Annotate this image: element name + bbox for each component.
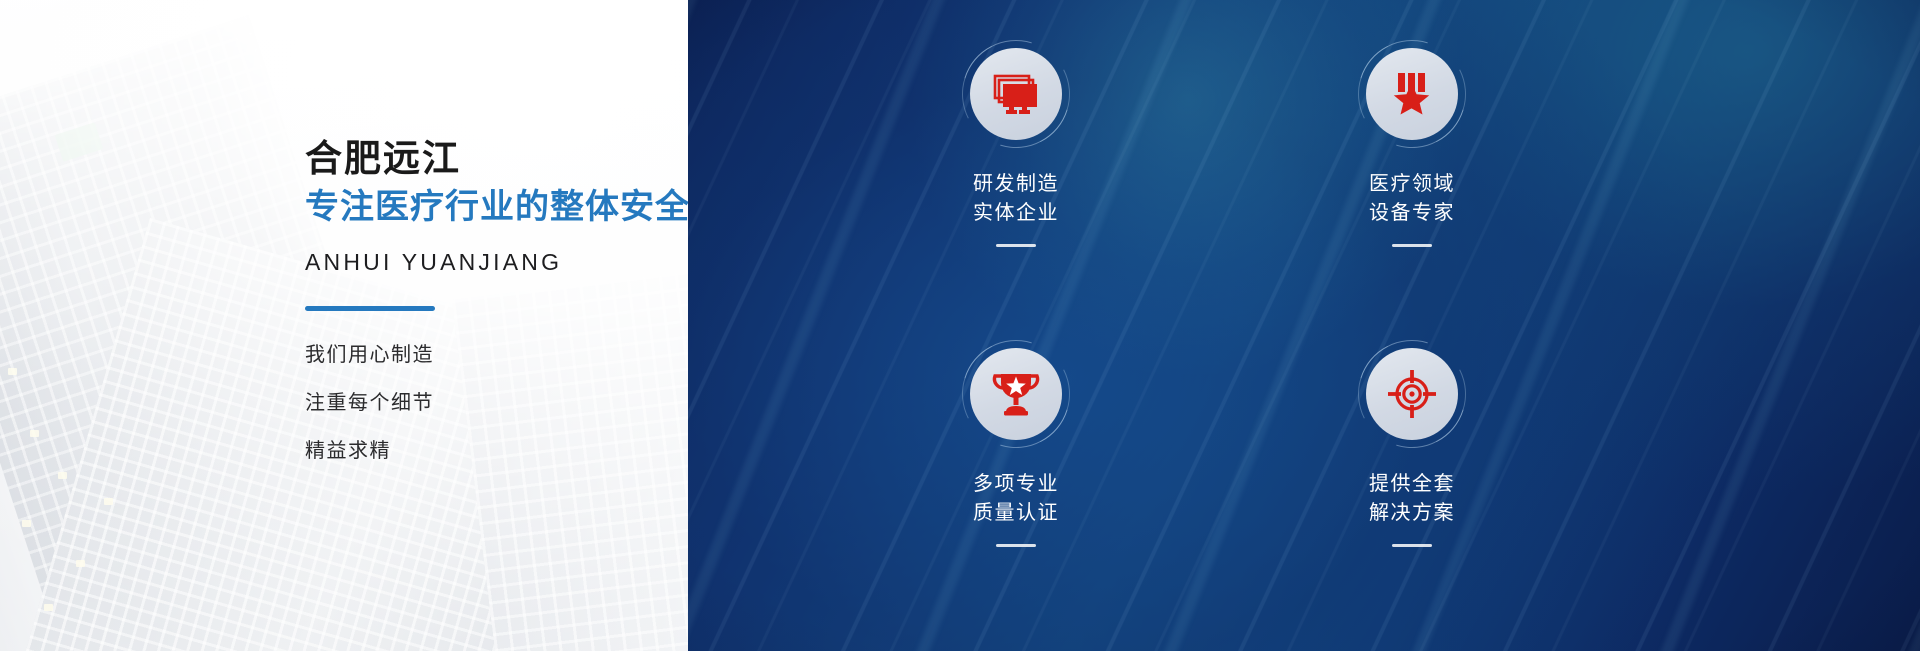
feature-item-medical-expert[interactable]: 医疗领域 设备专家 (1214, 40, 1610, 332)
promo-banner: 合肥远江 专注医疗行业的整体安全 ANHUI YUANJIANG 我们用心制造 … (0, 0, 1920, 651)
icon-container (1358, 40, 1466, 148)
feature-item-quality-certification[interactable]: 多项专业 质量认证 (818, 332, 1214, 624)
icon-disc (970, 48, 1062, 140)
icon-disc (1366, 48, 1458, 140)
feature-label: 提供全套 解决方案 (1369, 470, 1455, 528)
slogan-list: 我们用心制造 注重每个细节 精益求精 (305, 345, 685, 461)
feature-label-line2: 质量认证 (973, 499, 1059, 528)
brand-tagline-cn: 专注医疗行业的整体安全 (305, 185, 685, 229)
medal-star-icon (1390, 71, 1434, 117)
icon-disc (1366, 348, 1458, 440)
icon-container (962, 40, 1070, 148)
feature-label-line2: 实体企业 (973, 199, 1059, 228)
feature-label-line1: 研发制造 (973, 170, 1059, 199)
feature-label-line1: 医疗领域 (1369, 170, 1455, 199)
feature-underline (1392, 544, 1432, 547)
feature-underline (996, 244, 1036, 247)
right-feature-panel: 研发制造 实体企业 (688, 0, 1920, 651)
feature-label-line1: 多项专业 (973, 470, 1059, 499)
slogan-line: 注重每个细节 (305, 393, 685, 413)
factory-building-icon (991, 73, 1041, 115)
brand-name-en: ANHUI YUANJIANG (305, 249, 685, 276)
icon-disc (970, 348, 1062, 440)
brand-text-block: 合肥远江 专注医疗行业的整体安全 ANHUI YUANJIANG 我们用心制造 … (305, 136, 685, 461)
feature-label-line1: 提供全套 (1369, 470, 1455, 499)
feature-underline (996, 544, 1036, 547)
target-crosshair-icon (1387, 369, 1437, 419)
feature-label: 多项专业 质量认证 (973, 470, 1059, 528)
feature-grid: 研发制造 实体企业 (688, 0, 1920, 651)
left-brand-panel: 合肥远江 专注医疗行业的整体安全 ANHUI YUANJIANG 我们用心制造 … (0, 0, 688, 651)
slogan-line: 我们用心制造 (305, 345, 685, 365)
brand-name-cn: 合肥远江 (305, 136, 685, 181)
icon-container (962, 340, 1070, 448)
feature-item-full-solution[interactable]: 提供全套 解决方案 (1214, 332, 1610, 624)
feature-item-rd-manufacturing[interactable]: 研发制造 实体企业 (818, 40, 1214, 332)
feature-underline (1392, 244, 1432, 247)
feature-label: 医疗领域 设备专家 (1369, 170, 1455, 228)
feature-label-line2: 解决方案 (1369, 499, 1455, 528)
icon-container (1358, 340, 1466, 448)
feature-label: 研发制造 实体企业 (973, 170, 1059, 228)
brand-divider (305, 306, 435, 311)
trophy-star-icon (992, 371, 1040, 417)
feature-label-line2: 设备专家 (1369, 199, 1455, 228)
slogan-line: 精益求精 (305, 441, 685, 461)
